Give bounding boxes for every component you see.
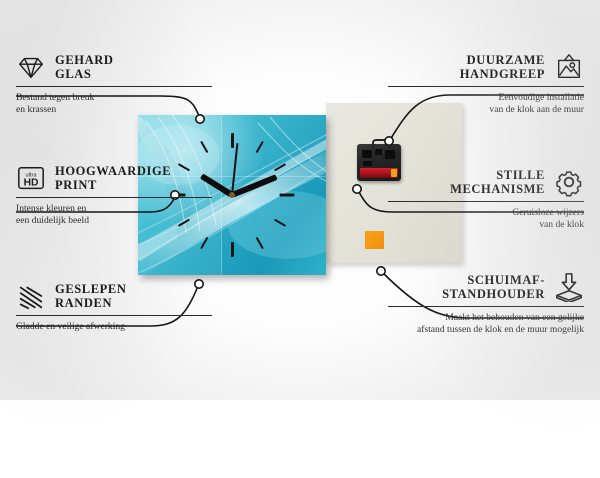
press-down-icon — [554, 272, 584, 302]
divider — [16, 86, 212, 87]
divider — [16, 197, 212, 198]
feature-title: GESLEPEN RANDEN — [55, 282, 127, 311]
feature-gehard-glas: GEHARD GLAS Bestand tegen breuk en krass… — [16, 52, 212, 117]
glass-seam-vertical — [221, 115, 222, 275]
divider — [388, 86, 584, 87]
mechanism-detail — [375, 149, 382, 155]
foam-spacer — [365, 231, 384, 249]
clock-tick — [231, 133, 234, 148]
feature-description: Maakt het behouden van een gelijke afsta… — [388, 312, 584, 337]
svg-text:HD: HD — [24, 178, 39, 189]
feature-title: SCHUIMAF- STANDHOUDER — [442, 273, 545, 302]
feature-title: STILLE MECHANISME — [450, 168, 545, 197]
mechanism-detail — [363, 161, 372, 166]
feature-duurzame-handgreep: DUURZAME HANDGREEP Eenvoudige installati… — [388, 52, 584, 117]
feature-title: GEHARD GLAS — [55, 53, 113, 82]
feature-title: HOOGWAARDIGE PRINT — [55, 164, 171, 193]
feature-geslepen-randen: GESLEPEN RANDEN Gladde en veilige afwerk… — [16, 281, 212, 333]
mechanism-detail — [362, 150, 372, 158]
feature-title: DUURZAME HANDGREEP — [460, 53, 545, 82]
clock-tick — [231, 242, 234, 257]
mechanism-hanger — [372, 139, 390, 149]
feature-description: Gladde en veilige afwerking — [16, 321, 212, 333]
diamond-icon — [16, 52, 46, 82]
feature-stille-mechanisme: STILLE MECHANISME Geruisloze wijzers van… — [388, 167, 584, 232]
infographic-canvas: GEHARD GLAS Bestand tegen breuk en krass… — [0, 0, 600, 400]
feature-description: Intense kleuren en een duidelijk beeld — [16, 203, 212, 228]
divider — [16, 315, 212, 316]
feature-description: Eenvoudige installatie van de klok aan d… — [388, 92, 584, 117]
feature-description: Bestand tegen breuk en krassen — [16, 92, 212, 117]
picture-frame-icon — [554, 52, 584, 82]
clock-center-pin — [229, 192, 235, 198]
divider — [388, 306, 584, 307]
mechanism-detail — [385, 150, 395, 159]
ultra-hd-icon: ultra HD — [16, 163, 46, 193]
feature-schuimafstandhouder: SCHUIMAF- STANDHOUDER Maakt het behouden… — [388, 272, 584, 337]
diagonal-lines-icon — [16, 281, 46, 311]
feature-hoogwaardige-print: ultra HD HOOGWAARDIGE PRINT Intense kleu… — [16, 163, 212, 228]
clock-tick — [280, 194, 295, 197]
feature-description: Geruisloze wijzers van de klok — [388, 207, 584, 232]
divider — [388, 201, 584, 202]
gear-icon — [554, 167, 584, 197]
